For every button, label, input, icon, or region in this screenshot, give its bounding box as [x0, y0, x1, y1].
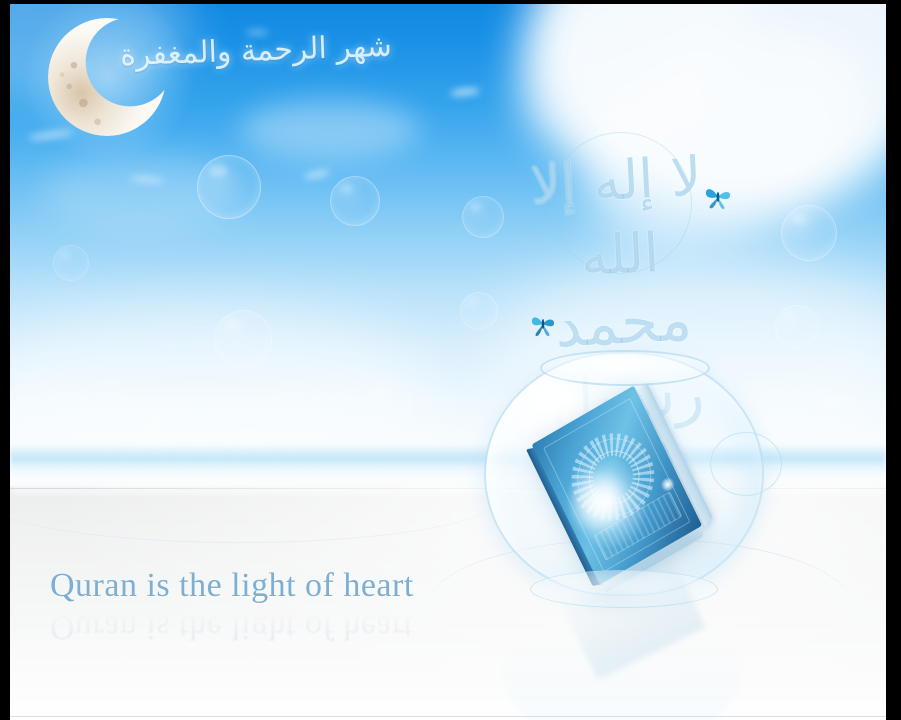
bubble-icon	[781, 205, 837, 261]
bottom-edge-line	[10, 716, 886, 717]
calligraphy-halo-circle	[550, 132, 692, 274]
bubble-icon	[147, 413, 179, 445]
video-frame: شهر الرحمة والمغفرة لا إله إلا الله محمد…	[0, 0, 901, 720]
cloud-mid-wisp	[240, 99, 420, 159]
glass-bowl-with-quran	[462, 334, 792, 634]
crescent-moon-icon	[48, 18, 168, 136]
bubble-icon	[197, 155, 261, 219]
bubble-icon	[366, 380, 412, 426]
bubble-icon	[330, 176, 380, 226]
picture-area: شهر الرحمة والمغفرة لا إله إلا الله محمد…	[10, 4, 886, 720]
bubble-icon	[462, 196, 504, 238]
tagline-reflection-text: Quran is the light of heart	[50, 608, 414, 646]
glass-bowl-reflection	[502, 596, 742, 720]
butterfly-icon	[703, 184, 733, 215]
bubble-icon	[53, 245, 89, 281]
glass-bowl-side-ring	[710, 432, 782, 496]
cloud-streak	[246, 30, 268, 35]
bubble-icon	[460, 292, 498, 330]
bubble-icon	[821, 395, 861, 435]
bubble-icon	[671, 99, 731, 159]
tagline-text: Quran is the light of heart	[50, 567, 414, 605]
moon-texture	[48, 18, 166, 136]
glass-bowl-rim	[540, 350, 710, 386]
bubble-icon	[214, 310, 272, 368]
